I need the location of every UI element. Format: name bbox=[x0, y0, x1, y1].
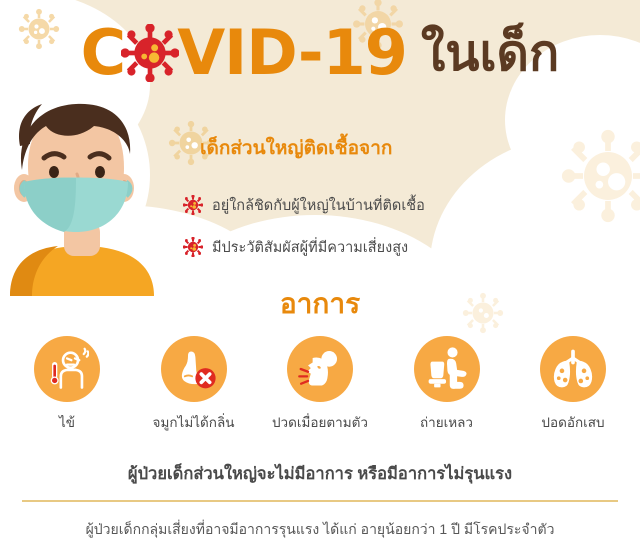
fever-thermometer-icon bbox=[34, 336, 100, 402]
symptom-label: จมูกไม่ได้กลิ่น bbox=[153, 411, 235, 433]
transmission-heading: เด็กส่วนใหญ่ติดเชื้อจาก bbox=[200, 133, 392, 163]
title-letter-c: C bbox=[81, 22, 126, 84]
page-title: C VI bbox=[0, 22, 640, 84]
main-note-text: ผู้ป่วยเด็กส่วนใหญ่จะไม่มีอาการ หรือมีอา… bbox=[0, 461, 640, 487]
symptom-item-pneumonia: ปอดอักเสบ bbox=[514, 336, 632, 433]
list-item: มีประวัติสัมผัสผู้ที่มีความเสี่ยงสูง bbox=[183, 230, 623, 264]
risk-note-text: ผู้ป่วยเด็กกลุ่มเสี่ยงที่อาจมีอาการรุนแร… bbox=[0, 519, 640, 541]
transmission-bullet-list: อยู่ใกล้ชิดกับผู้ใหญ่ในบ้านที่ติดเชื้อ bbox=[183, 188, 623, 264]
symptoms-heading: อาการ bbox=[0, 282, 640, 326]
symptom-label: ไข้ bbox=[59, 411, 75, 433]
symptoms-row: ไข้ จมูกไม่ได้กลิ่น bbox=[8, 336, 632, 433]
symptom-label: ถ่ายเหลว bbox=[420, 411, 473, 433]
nose-no-smell-icon bbox=[161, 336, 227, 402]
coronavirus-icon bbox=[121, 24, 179, 82]
coronavirus-bullet-icon bbox=[183, 195, 203, 215]
symptom-label: ปวดเมื่อยตามตัว bbox=[272, 411, 368, 433]
symptom-item-diarrhea: ถ่ายเหลว bbox=[388, 336, 506, 433]
body-ache-icon bbox=[287, 336, 353, 402]
infographic-poster: C VI bbox=[0, 0, 640, 549]
list-item-label: มีประวัติสัมผัสผู้ที่มีความเสี่ยงสูง bbox=[212, 236, 408, 259]
list-item: อยู่ใกล้ชิดกับผู้ใหญ่ในบ้านที่ติดเชื้อ bbox=[183, 188, 623, 222]
title-text-thai: ในเด็ก bbox=[421, 28, 559, 78]
symptom-item-fever: ไข้ bbox=[8, 336, 126, 433]
divider bbox=[22, 500, 618, 502]
coronavirus-bullet-icon bbox=[183, 237, 203, 257]
title-text-vid19: VID-19 bbox=[177, 22, 407, 84]
symptom-item-no-smell: จมูกไม่ได้กลิ่น bbox=[135, 336, 253, 433]
diarrhea-toilet-icon bbox=[414, 336, 480, 402]
list-item-label: อยู่ใกล้ชิดกับผู้ใหญ่ในบ้านที่ติดเชื้อ bbox=[212, 194, 425, 217]
symptom-label: ปอดอักเสบ bbox=[541, 411, 604, 433]
symptom-item-body-ache: ปวดเมื่อยตามตัว bbox=[261, 336, 379, 433]
lungs-pneumonia-icon bbox=[540, 336, 606, 402]
boy-wearing-face-mask-illustration bbox=[2, 96, 162, 296]
